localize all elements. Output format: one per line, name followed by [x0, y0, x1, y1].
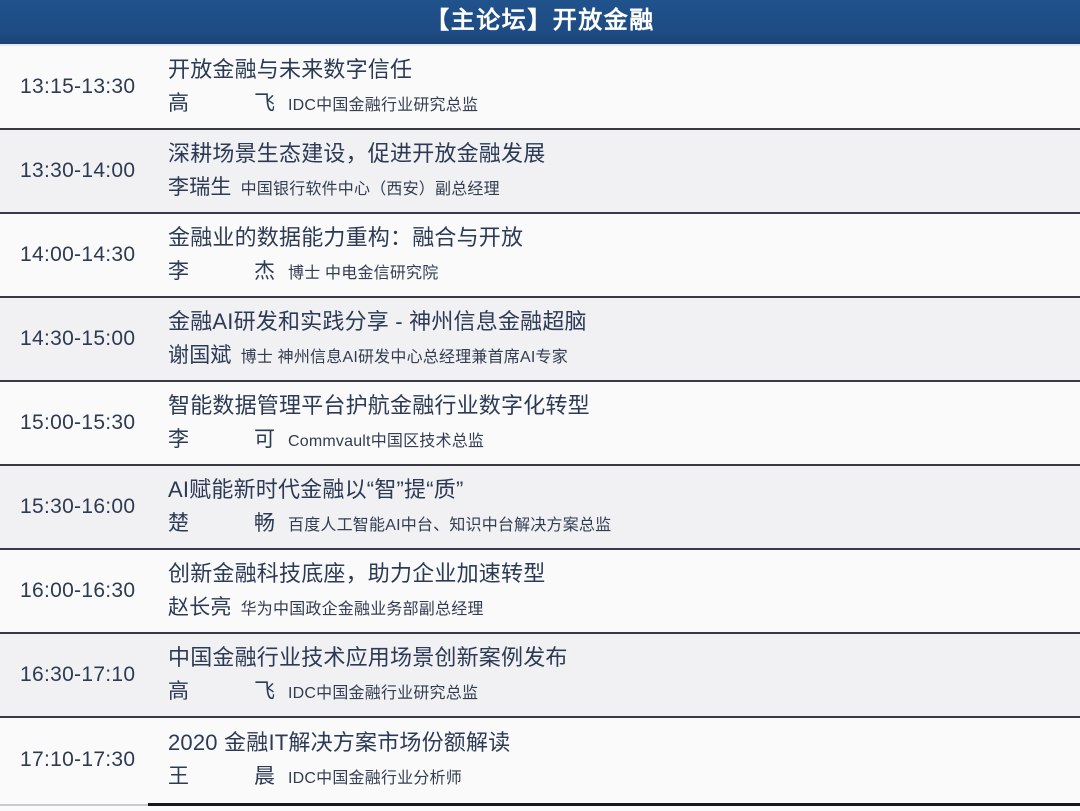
session-info: 中国金融行业技术应用场景创新案例发布高 飞IDC中国金融行业研究总监 — [148, 645, 1080, 706]
table-row: 15:30-16:00AI赋能新时代金融以“智”提“质”楚 畅百度人工智能AI中… — [0, 466, 1080, 550]
session-time: 17:10-17:30 — [0, 748, 148, 772]
speaker-name: 李瑞生 — [168, 171, 232, 201]
session-time: 15:00-15:30 — [0, 411, 148, 435]
speaker-name: 高 飞 — [168, 675, 297, 705]
speaker-name: 李 杰 — [168, 255, 297, 285]
speaker-name: 李 可 — [168, 423, 297, 453]
session-info: 金融业的数据能力重构：融合与开放李 杰博士 中电金信研究院 — [148, 225, 1080, 286]
forum-header-bar: 【主论坛】开放金融 — [0, 0, 1080, 44]
session-info: 金融AI研发和实践分享 - 神州信息金融超脑谢国斌博士 神州信息AI研发中心总经… — [148, 309, 1080, 370]
session-time: 13:15-13:30 — [0, 75, 148, 99]
session-time: 14:00-14:30 — [0, 243, 148, 267]
table-row: 17:10-17:302020 金融IT解决方案市场份额解读王 晨IDC中国金融… — [0, 718, 1080, 802]
session-info: 智能数据管理平台护航金融行业数字化转型李 可Commvault中国区技术总监 — [148, 393, 1080, 454]
speaker-line: 高 飞IDC中国金融行业研究总监 — [168, 87, 1064, 117]
bottom-rule-dark-segment — [148, 803, 1080, 806]
speaker-org: 华为中国政企金融业务部副总经理 — [241, 595, 484, 619]
speaker-org: 博士 神州信息AI研发中心总经理兼首席AI专家 — [241, 343, 568, 367]
agenda-table: 【主论坛】开放金融 13:15-13:30开放金融与未来数字信任高 飞IDC中国… — [0, 0, 1080, 811]
speaker-line: 赵长亮华为中国政企金融业务部副总经理 — [168, 591, 1064, 621]
table-row: 13:15-13:30开放金融与未来数字信任高 飞IDC中国金融行业研究总监 — [0, 46, 1080, 130]
speaker-line: 谢国斌博士 神州信息AI研发中心总经理兼首席AI专家 — [168, 339, 1064, 369]
session-info: 2020 金融IT解决方案市场份额解读王 晨IDC中国金融行业分析师 — [148, 730, 1080, 791]
table-row: 16:30-17:10中国金融行业技术应用场景创新案例发布高 飞IDC中国金融行… — [0, 634, 1080, 718]
speaker-org: 博士 中电金信研究院 — [288, 259, 438, 283]
table-row: 14:30-15:00金融AI研发和实践分享 - 神州信息金融超脑谢国斌博士 神… — [0, 298, 1080, 382]
session-info: 深耕场景生态建设，促进开放金融发展李瑞生中国银行软件中心（西安）副总经理 — [148, 141, 1080, 202]
session-title: 中国金融行业技术应用场景创新案例发布 — [168, 645, 1064, 672]
bottom-rule-light-segment — [0, 804, 148, 806]
session-title: AI赋能新时代金融以“智”提“质” — [168, 477, 1064, 504]
session-time: 16:30-17:10 — [0, 663, 148, 687]
session-title: 智能数据管理平台护航金融行业数字化转型 — [168, 393, 1064, 420]
table-row: 16:00-16:30创新金融科技底座，助力企业加速转型赵长亮华为中国政企金融业… — [0, 550, 1080, 634]
session-list: 13:15-13:30开放金融与未来数字信任高 飞IDC中国金融行业研究总监13… — [0, 46, 1080, 802]
session-title: 金融AI研发和实践分享 - 神州信息金融超脑 — [168, 309, 1064, 336]
speaker-line: 李 杰博士 中电金信研究院 — [168, 255, 1064, 285]
speaker-line: 李瑞生中国银行软件中心（西安）副总经理 — [168, 171, 1064, 201]
speaker-name: 高 飞 — [168, 87, 297, 117]
page-title: 【主论坛】开放金融 — [425, 9, 655, 33]
table-row: 15:00-15:30智能数据管理平台护航金融行业数字化转型李 可Commvau… — [0, 382, 1080, 466]
speaker-name: 谢国斌 — [168, 339, 232, 369]
speaker-line: 李 可Commvault中国区技术总监 — [168, 423, 1064, 453]
bottom-rule — [0, 803, 1080, 806]
speaker-org: IDC中国金融行业分析师 — [288, 764, 462, 788]
session-title: 2020 金融IT解决方案市场份额解读 — [168, 730, 1064, 757]
speaker-org: 百度人工智能AI中台、知识中台解决方案总监 — [288, 511, 611, 535]
speaker-org: IDC中国金融行业研究总监 — [288, 91, 478, 115]
speaker-org: IDC中国金融行业研究总监 — [288, 679, 478, 703]
session-title: 开放金融与未来数字信任 — [168, 57, 1064, 84]
session-time: 14:30-15:00 — [0, 327, 148, 351]
speaker-name: 赵长亮 — [168, 591, 232, 621]
speaker-org: 中国银行软件中心（西安）副总经理 — [241, 175, 500, 199]
session-time: 16:00-16:30 — [0, 579, 148, 603]
speaker-line: 王 晨IDC中国金融行业分析师 — [168, 760, 1064, 790]
session-title: 深耕场景生态建设，促进开放金融发展 — [168, 141, 1064, 168]
session-info: AI赋能新时代金融以“智”提“质”楚 畅百度人工智能AI中台、知识中台解决方案总… — [148, 477, 1080, 538]
speaker-line: 楚 畅百度人工智能AI中台、知识中台解决方案总监 — [168, 507, 1064, 537]
session-info: 开放金融与未来数字信任高 飞IDC中国金融行业研究总监 — [148, 57, 1080, 118]
speaker-name: 王 晨 — [168, 760, 297, 790]
speaker-org: Commvault中国区技术总监 — [288, 427, 484, 451]
table-row: 14:00-14:30金融业的数据能力重构：融合与开放李 杰博士 中电金信研究院 — [0, 214, 1080, 298]
session-time: 15:30-16:00 — [0, 495, 148, 519]
session-info: 创新金融科技底座，助力企业加速转型赵长亮华为中国政企金融业务部副总经理 — [148, 561, 1080, 622]
table-row: 13:30-14:00深耕场景生态建设，促进开放金融发展李瑞生中国银行软件中心（… — [0, 130, 1080, 214]
session-title: 创新金融科技底座，助力企业加速转型 — [168, 561, 1064, 588]
speaker-line: 高 飞IDC中国金融行业研究总监 — [168, 675, 1064, 705]
session-time: 13:30-14:00 — [0, 159, 148, 183]
session-title: 金融业的数据能力重构：融合与开放 — [168, 225, 1064, 252]
speaker-name: 楚 畅 — [168, 507, 297, 537]
